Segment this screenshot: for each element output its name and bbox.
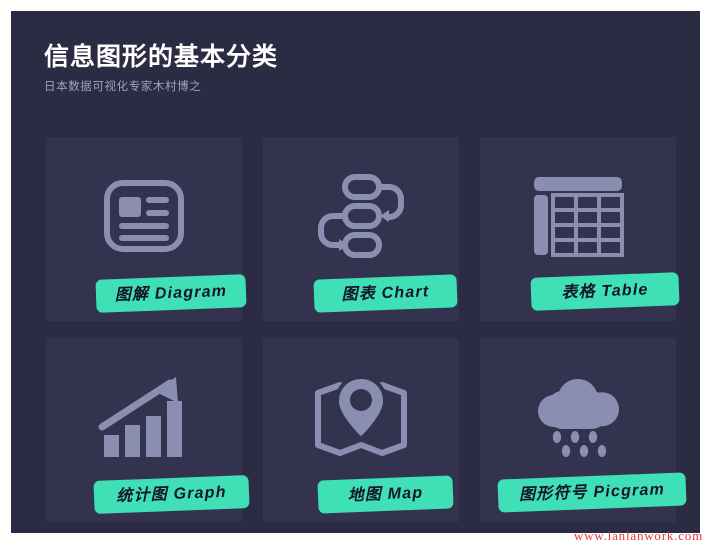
category-grid: 图解 Diagram 图表 Chart 表格 Table 统计图 Graph 地… — [46, 137, 676, 529]
category-label-map[interactable]: 地图 Map — [317, 475, 453, 513]
watermark: www.lanlanwork.com — [574, 528, 703, 544]
category-label-text: 图形符号 Picgram — [519, 481, 666, 505]
category-label-text: 地图 Map — [347, 484, 423, 505]
bar-chart-arrow-icon — [46, 352, 242, 482]
category-label-text: 图解 Diagram — [114, 282, 227, 304]
map-pin-icon — [263, 352, 459, 482]
slide-page: 信息图形的基本分类 日本数据可视化专家木村博之 — [0, 0, 711, 546]
table-grid-icon — [480, 151, 676, 281]
flow-process-icon — [263, 151, 459, 281]
slide-canvas: 信息图形的基本分类 日本数据可视化专家木村博之 — [11, 11, 700, 533]
page-title: 信息图形的基本分类 — [44, 41, 644, 73]
rain-cloud-icon — [480, 352, 676, 482]
category-label-graph[interactable]: 统计图 Graph — [93, 475, 249, 514]
category-label-text: 表格 Table — [561, 281, 649, 302]
category-label-diagram[interactable]: 图解 Diagram — [95, 274, 246, 313]
document-layout-icon — [46, 151, 242, 281]
category-label-text: 统计图 Graph — [116, 483, 227, 505]
category-label-chart[interactable]: 图表 Chart — [313, 274, 457, 312]
slide-header: 信息图形的基本分类 日本数据可视化专家木村博之 — [44, 41, 644, 95]
category-label-table[interactable]: 表格 Table — [530, 272, 679, 311]
page-subtitle: 日本数据可视化专家木村博之 — [44, 80, 644, 95]
category-label-text: 图表 Chart — [341, 283, 429, 304]
